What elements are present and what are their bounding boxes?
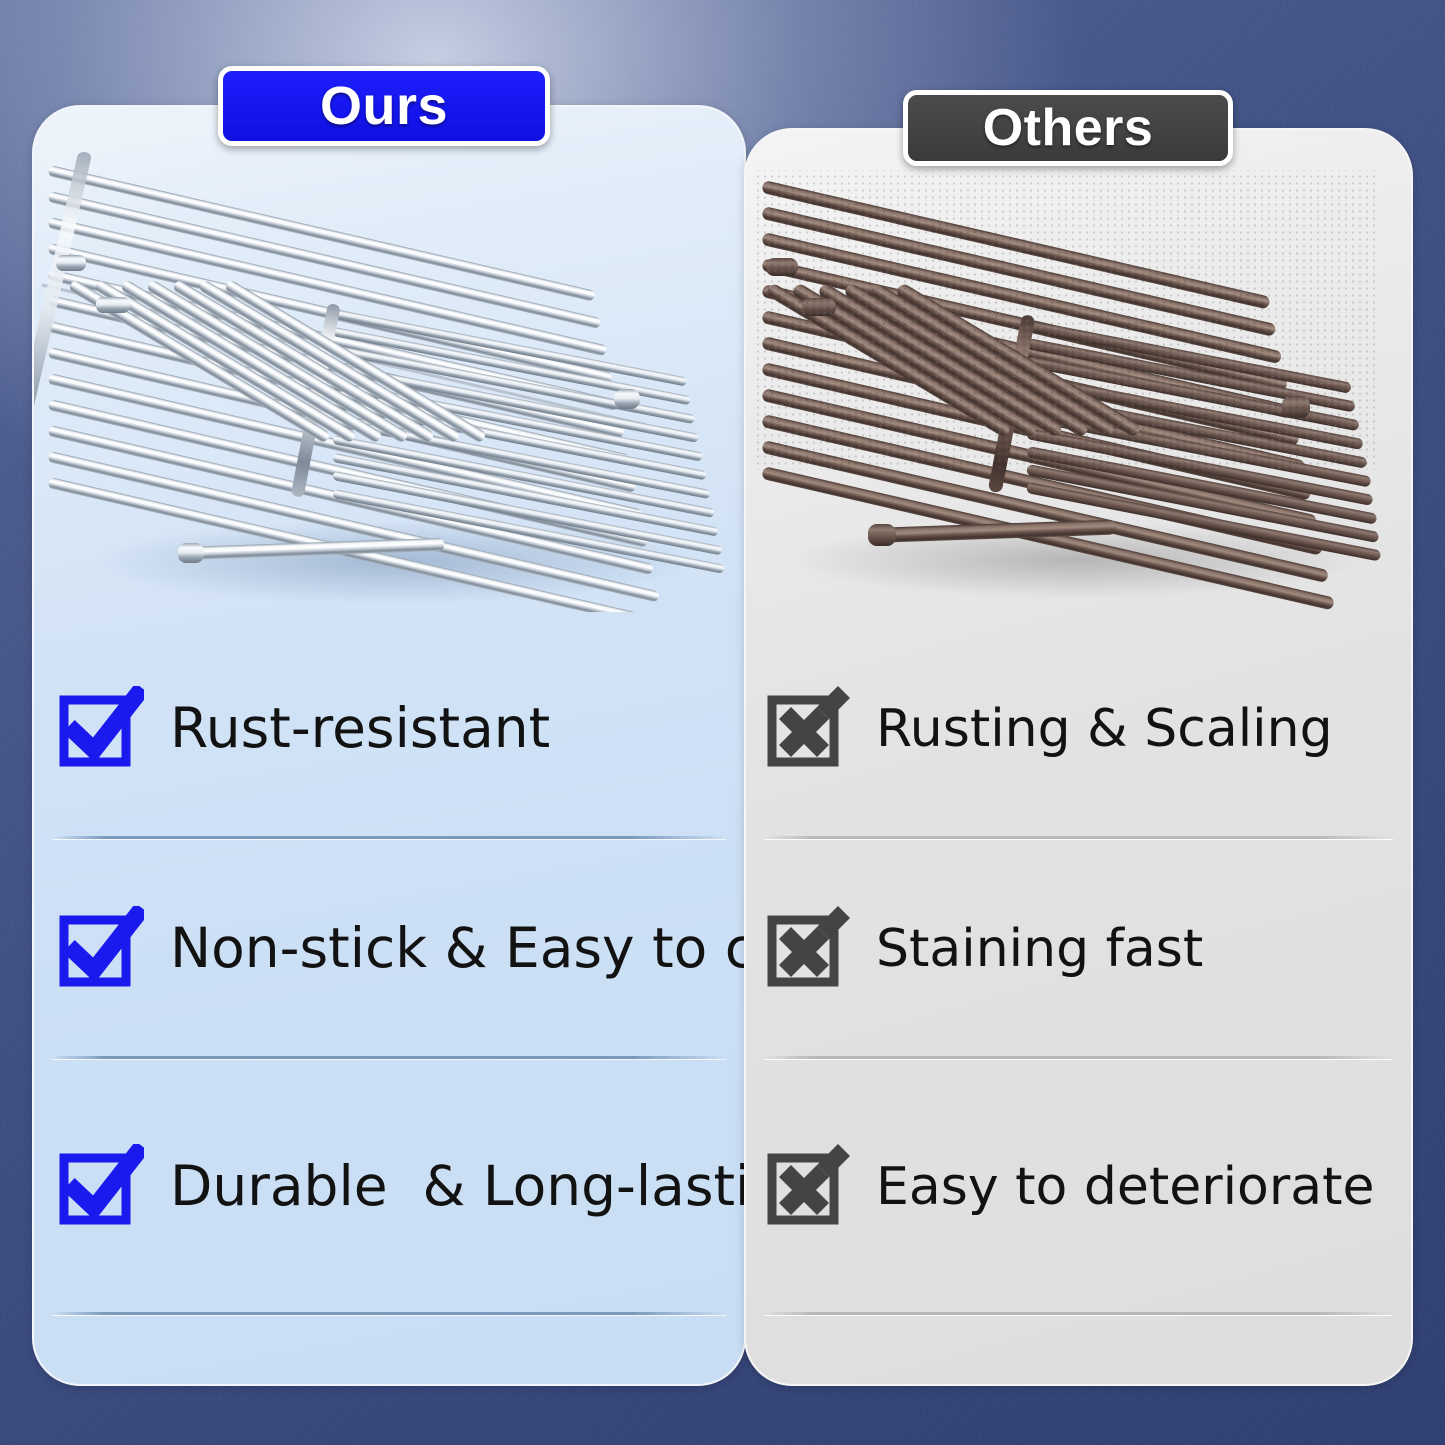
comparison-infographic: Rust-resistant Non-stick & Easy to clean xyxy=(0,0,1445,1445)
feature-label: Non-stick & Easy to clean xyxy=(170,920,746,978)
rusted-grill-grates-illustration xyxy=(746,130,1413,610)
feature-row: Non-stick & Easy to clean xyxy=(34,839,744,1059)
feature-label: Durable & Long-lasting xyxy=(170,1158,746,1216)
hero-image-ours xyxy=(34,107,746,612)
panel-others: Rusting & Scaling Staining fast xyxy=(744,128,1413,1386)
checkbox-checked-icon xyxy=(58,1144,144,1230)
hero-image-others xyxy=(746,130,1413,610)
feature-label: Rust-resistant xyxy=(170,700,550,758)
feature-label: Staining fast xyxy=(876,922,1203,977)
feature-row: Rust-resistant xyxy=(34,619,744,839)
checkbox-crossed-icon xyxy=(766,906,852,992)
row-divider xyxy=(764,1312,1393,1315)
feature-row: Durable & Long-lasting xyxy=(34,1059,744,1315)
feature-list-others: Rusting & Scaling Staining fast xyxy=(746,619,1411,1315)
badge-ours: Ours xyxy=(218,66,550,146)
feature-label: Rusting & Scaling xyxy=(876,702,1333,757)
feature-row: Staining fast xyxy=(746,839,1411,1059)
feature-list-ours: Rust-resistant Non-stick & Easy to clean xyxy=(34,619,744,1315)
feature-row: Easy to deteriorate xyxy=(746,1059,1411,1315)
checkbox-checked-icon xyxy=(58,686,144,772)
feature-label: Easy to deteriorate xyxy=(876,1160,1375,1215)
checkbox-crossed-icon xyxy=(766,1144,852,1230)
badge-others: Others xyxy=(903,90,1233,166)
stainless-grill-grates-illustration xyxy=(34,107,746,612)
checkbox-checked-icon xyxy=(58,906,144,992)
checkbox-crossed-icon xyxy=(766,686,852,772)
row-divider xyxy=(52,1312,726,1315)
panel-ours: Rust-resistant Non-stick & Easy to clean xyxy=(32,105,746,1386)
feature-row: Rusting & Scaling xyxy=(746,619,1411,839)
